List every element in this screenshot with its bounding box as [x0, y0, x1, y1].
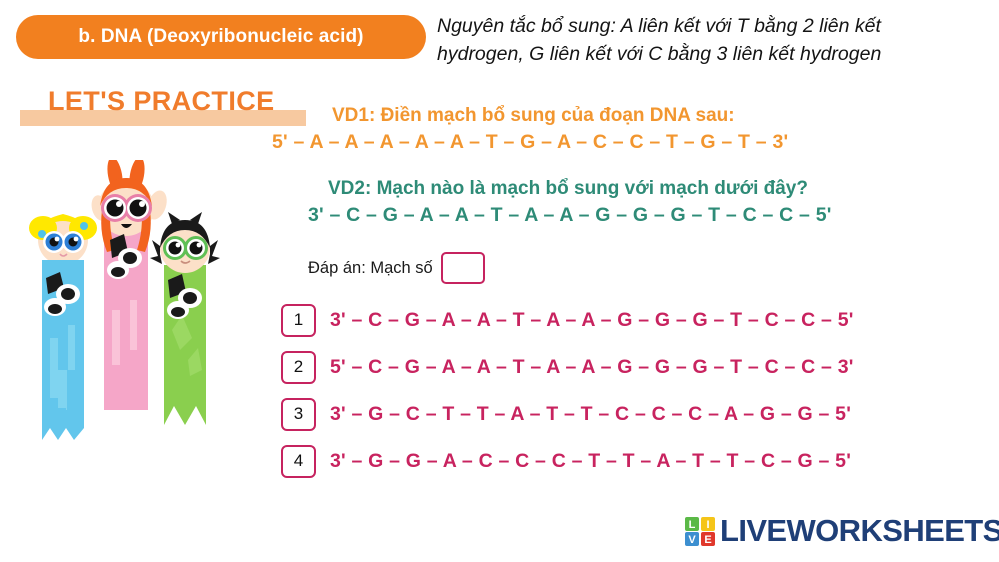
liveworksheets-logo-mark: L I V E — [684, 516, 716, 546]
answer-input[interactable] — [441, 252, 485, 284]
section-title-label: b. DNA (Deoxyribonucleic acid) — [78, 26, 363, 48]
option-number-3[interactable]: 3 — [281, 398, 316, 431]
complementary-rule-note: Nguyên tắc bổ sung: A liên kết với T bằn… — [437, 13, 989, 68]
worksheet-page: b. DNA (Deoxyribonucleic acid) Nguyên tắ… — [0, 0, 999, 562]
practice-heading: LET'S PRACTICE — [48, 86, 275, 117]
answer-row: Đáp án: Mạch số — [308, 252, 485, 284]
option-row-3[interactable]: 3 3' – G – C – T – T – A – T – T – C – C… — [281, 394, 854, 434]
bubbles-figure — [29, 214, 97, 440]
note-line-1: Nguyên tắc bổ sung: A liên kết với T bằn… — [437, 13, 989, 41]
options-list: 1 3' – C – G – A – A – T – A – A – G – G… — [281, 300, 854, 488]
option-sequence-1: 3' – C – G – A – A – T – A – A – G – G –… — [330, 309, 854, 332]
svg-text:E: E — [704, 534, 711, 546]
blossom-figure — [89, 160, 170, 410]
option-sequence-3: 3' – G – C – T – T – A – T – T – C – C –… — [330, 403, 851, 426]
svg-text:L: L — [689, 519, 696, 531]
svg-text:V: V — [688, 534, 696, 546]
option-sequence-4: 3' – G – G – A – C – C – C – T – T – A –… — [330, 450, 851, 473]
option-row-2[interactable]: 2 5' – C – G – A – A – T – A – A – G – G… — [281, 347, 854, 387]
liveworksheets-logo: L I V E LIVEWORKSHEETS — [684, 515, 999, 546]
svg-text:I: I — [706, 519, 709, 531]
vd2-heading: VD2: Mạch nào là mạch bổ sung với mạch d… — [328, 178, 808, 200]
buttercup-figure — [150, 212, 220, 425]
option-row-1[interactable]: 1 3' – C – G – A – A – T – A – A – G – G… — [281, 300, 854, 340]
vd1-heading: VD1: Điền mạch bổ sung của đoạn DNA sau: — [332, 105, 735, 127]
powerpuff-girls-svg — [12, 160, 234, 460]
note-line-2: hydrogen, G liên kết với C bằng 3 liên k… — [437, 41, 989, 69]
option-number-1[interactable]: 1 — [281, 304, 316, 337]
section-title-badge: b. DNA (Deoxyribonucleic acid) — [16, 15, 426, 59]
option-number-2[interactable]: 2 — [281, 351, 316, 384]
option-row-4[interactable]: 4 3' – G – G – A – C – C – C – T – T – A… — [281, 441, 854, 481]
answer-label: Đáp án: Mạch số — [308, 259, 433, 278]
vd2-sequence: 3' – C – G – A – A – T – A – A – G – G –… — [308, 204, 832, 227]
option-number-4[interactable]: 4 — [281, 445, 316, 478]
liveworksheets-wordmark: LIVEWORKSHEETS — [720, 515, 999, 546]
vd1-sequence: 5' – A – A – A – A – A – T – G – A – C –… — [272, 131, 788, 154]
option-sequence-2: 5' – C – G – A – A – T – A – A – G – G –… — [330, 356, 854, 379]
powerpuff-girls-illustration — [12, 160, 234, 460]
